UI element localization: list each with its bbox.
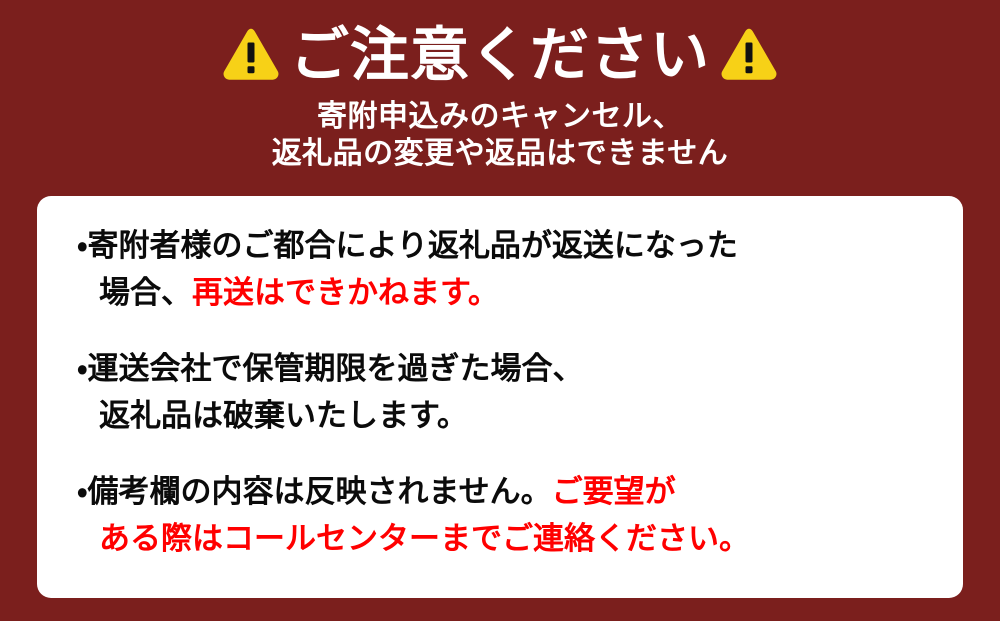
list-item: ・寄附者様のご都合により返礼品が返送になった場合、再送はできかねます。 [77, 222, 923, 316]
title-row: ご注意ください [0, 18, 1000, 92]
notice-text: 寄附者様のご都合により返礼品が返送になった [88, 228, 738, 263]
notice-text-emphasis: ある際はコールセンターまでご連絡ください。 [99, 521, 750, 556]
notice-text: 備考欄の内容は反映されません。 [88, 474, 552, 509]
list-item: ・運送会社で保管期限を過ぎた場合、返礼品は破棄いたします。 [77, 345, 923, 439]
notice-text: 返礼品は破棄いたします。 [99, 398, 468, 433]
banner-subtitle: 寄附申込みのキャンセル、 返礼品の変更や返品はできません [0, 98, 1000, 172]
notice-line: 場合、再送はできかねます。 [99, 269, 923, 316]
notice-line: 返礼品は破棄いたします。 [99, 392, 923, 439]
warning-triangle-icon [222, 28, 280, 82]
notice-text-emphasis: 再送はできかねます。 [192, 275, 499, 310]
bullet-marker: ・ [77, 474, 88, 509]
notice-line: ・寄附者様のご都合により返礼品が返送になった [99, 222, 923, 269]
subtitle-line-2: 返礼品の変更や返品はできません [0, 135, 1000, 172]
notice-card: ・寄附者様のご都合により返礼品が返送になった場合、再送はできかねます。・運送会社… [37, 196, 963, 598]
notice-line: ・備考欄の内容は反映されません。ご要望が [99, 468, 923, 515]
page-title: ご注意ください [290, 26, 710, 85]
bullet-marker: ・ [77, 351, 88, 386]
bullet-marker: ・ [77, 228, 88, 263]
notice-banner: ご注意ください 寄附申込みのキャンセル、 返礼品の変更や返品はできません ・寄附… [0, 0, 1000, 621]
notice-text: 場合、 [99, 275, 192, 310]
subtitle-line-1: 寄附申込みのキャンセル、 [0, 98, 1000, 135]
notice-text-emphasis: ご要望が [552, 474, 676, 509]
notice-line: ・運送会社で保管期限を過ぎた場合、 [99, 345, 923, 392]
notice-line: ある際はコールセンターまでご連絡ください。 [99, 515, 923, 562]
warning-triangle-icon [720, 28, 778, 82]
list-item: ・備考欄の内容は反映されません。ご要望がある際はコールセンターまでご連絡ください… [77, 468, 923, 562]
banner-header: ご注意ください 寄附申込みのキャンセル、 返礼品の変更や返品はできません [0, 0, 1000, 196]
notice-text: 運送会社で保管期限を過ぎた場合、 [88, 351, 584, 386]
notice-list: ・寄附者様のご都合により返礼品が返送になった場合、再送はできかねます。・運送会社… [77, 222, 923, 562]
